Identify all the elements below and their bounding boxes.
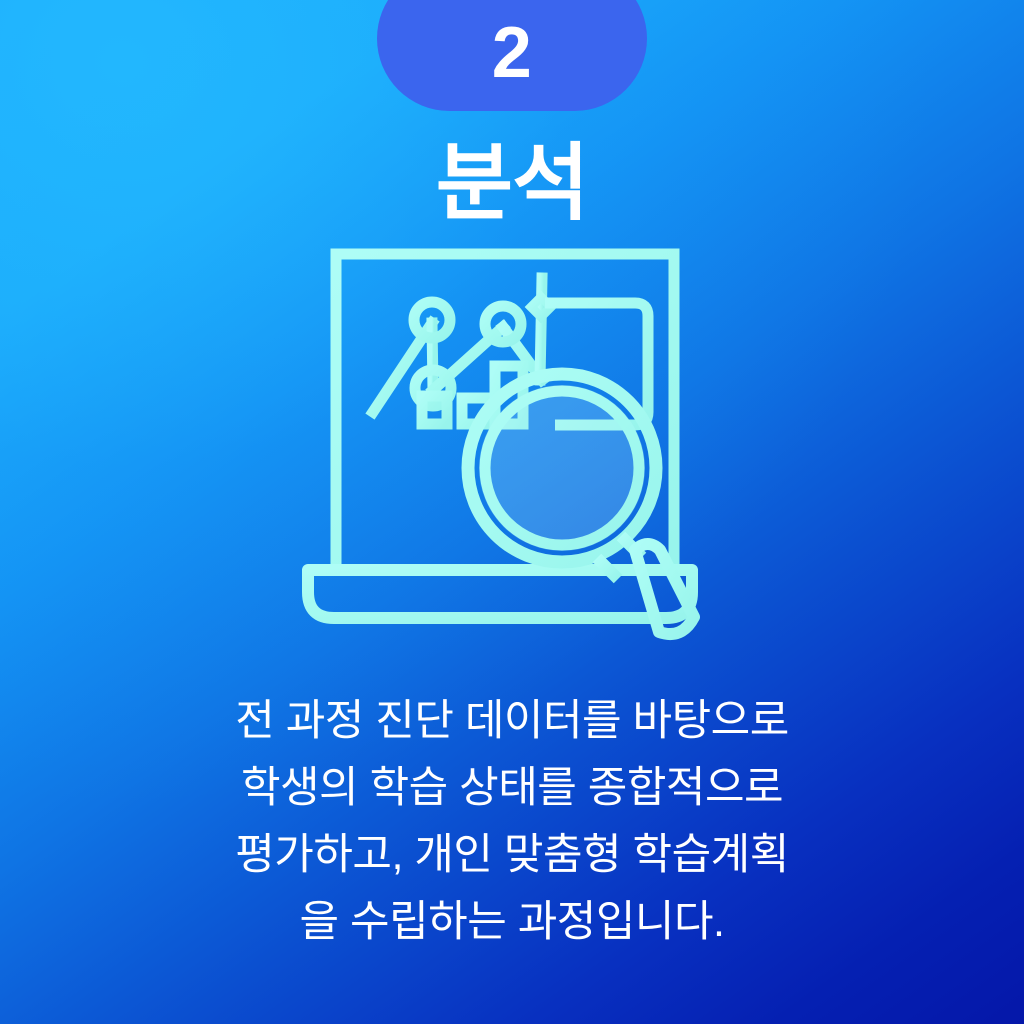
description-line-2: 학생의 학습 상태를 종합적으로 (112, 755, 912, 822)
step-badge-number: 2 (492, 17, 533, 89)
page-title: 분석 (0, 141, 1024, 225)
step-badge: 2 (377, 0, 647, 111)
description-line-3: 평가하고, 개인 맞춤형 학습계획 (112, 822, 912, 889)
description-text: 전 과정 진단 데이터를 바탕으로 학생의 학습 상태를 종합적으로 평가하고,… (112, 688, 912, 956)
step-card: 2 분석 (0, 0, 1024, 1024)
description-line-4: 을 수립하는 과정입니다. (112, 889, 912, 956)
description-line-1: 전 과정 진단 데이터를 바탕으로 (112, 688, 912, 755)
laptop-analytics-magnifier-icon (290, 240, 710, 660)
